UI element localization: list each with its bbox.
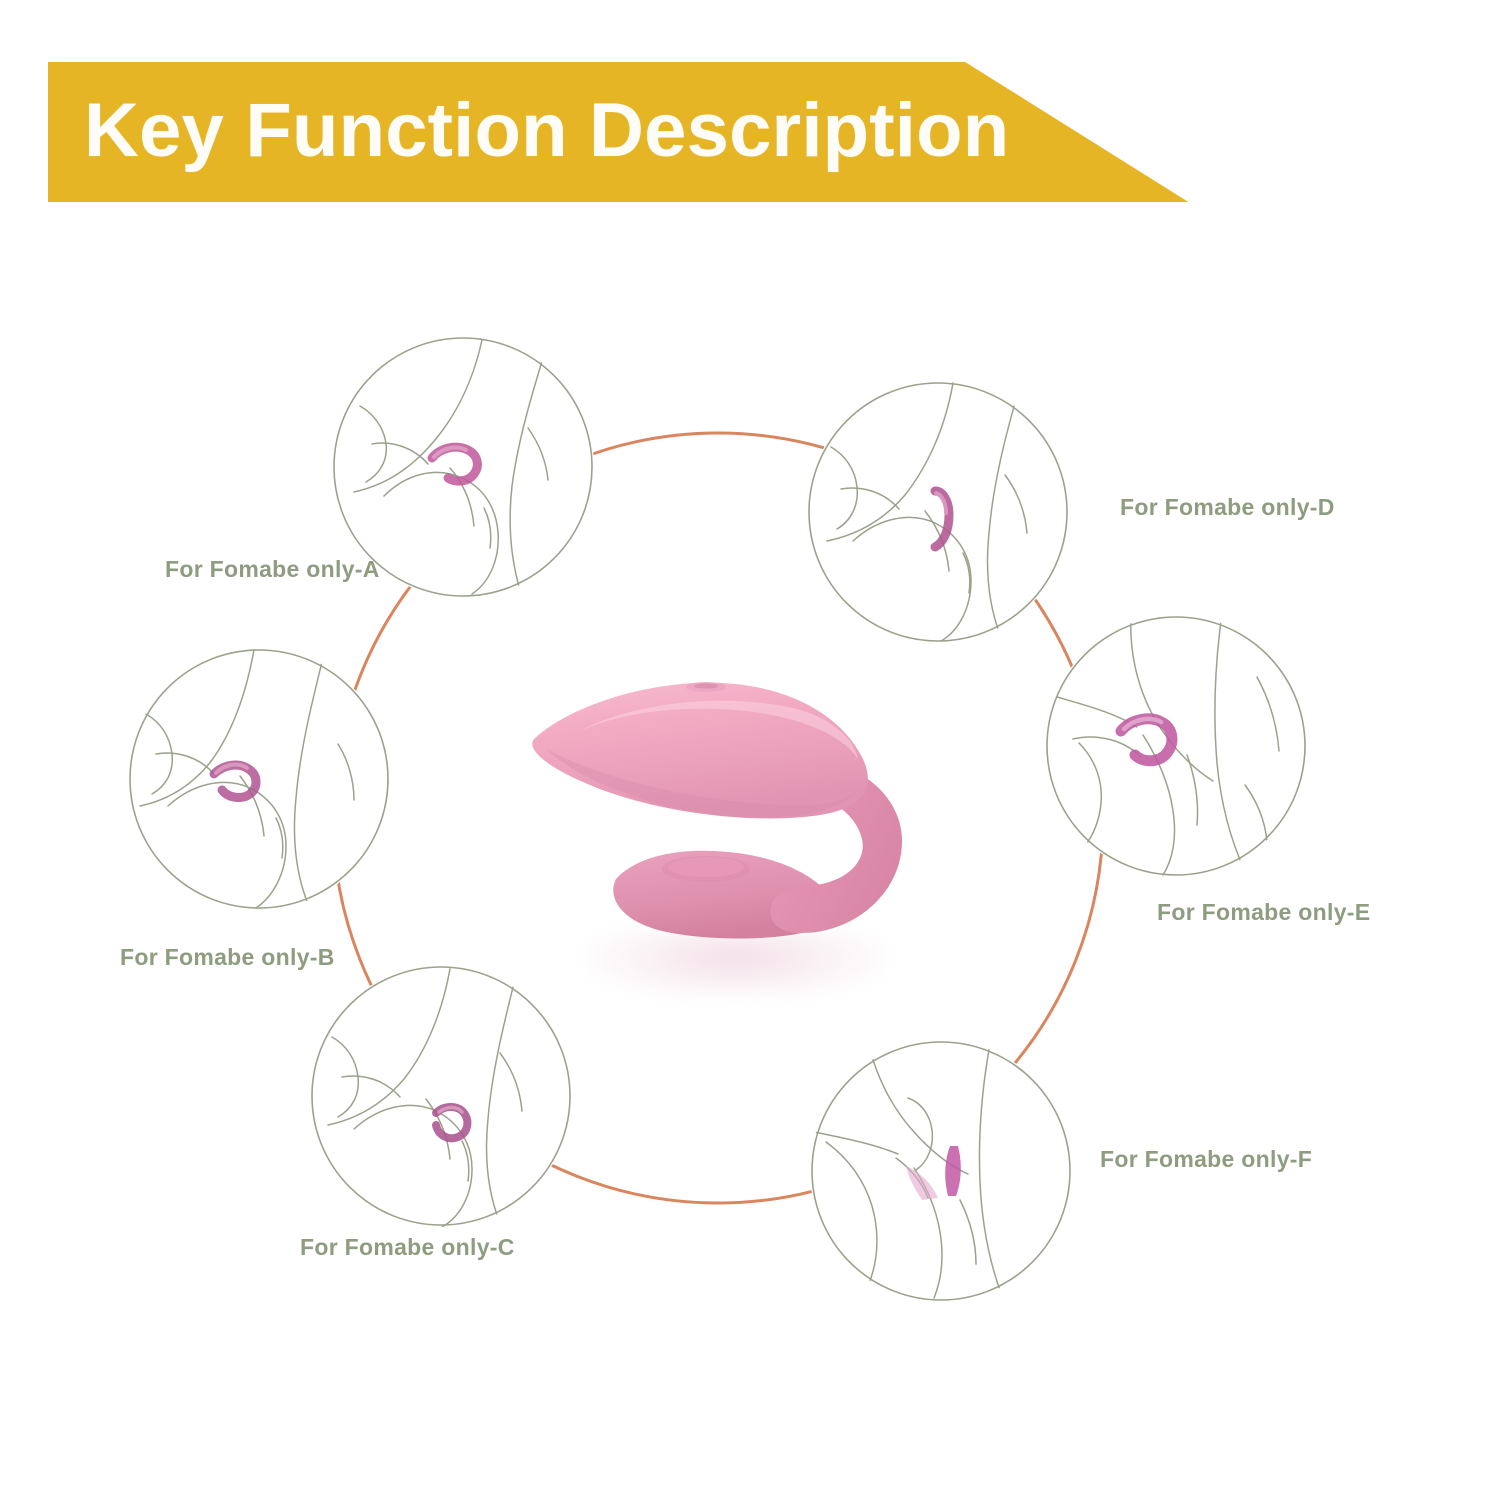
callout-node-b[interactable]: For Fomabe only-B bbox=[128, 648, 390, 910]
radial-callout-diagram: For Fomabe only-A bbox=[0, 0, 1500, 1500]
callout-label-d: For Fomabe only-D bbox=[1120, 494, 1335, 521]
callout-label-a: For Fomabe only-A bbox=[165, 556, 380, 583]
usage-illustration-icon bbox=[810, 1040, 1072, 1302]
callout-label-b: For Fomabe only-B bbox=[120, 944, 335, 971]
usage-illustration-icon bbox=[1045, 615, 1307, 877]
infographic-canvas: Key Function Description bbox=[0, 0, 1500, 1500]
callout-node-f[interactable]: For Fomabe only-F bbox=[810, 1040, 1072, 1302]
callout-node-c[interactable]: For Fomabe only-C bbox=[310, 965, 572, 1227]
callout-node-e[interactable]: For Fomabe only-E bbox=[1045, 615, 1307, 877]
callout-label-e: For Fomabe only-E bbox=[1157, 899, 1370, 926]
callout-label-f: For Fomabe only-F bbox=[1100, 1146, 1312, 1173]
usage-illustration-icon bbox=[310, 965, 572, 1227]
usage-illustration-icon bbox=[807, 381, 1069, 643]
callout-label-c: For Fomabe only-C bbox=[300, 1234, 515, 1261]
usage-illustration-icon bbox=[128, 648, 390, 910]
callout-node-d[interactable]: For Fomabe only-D bbox=[807, 381, 1069, 643]
callout-node-a[interactable]: For Fomabe only-A bbox=[332, 336, 594, 598]
product-device bbox=[510, 645, 950, 995]
